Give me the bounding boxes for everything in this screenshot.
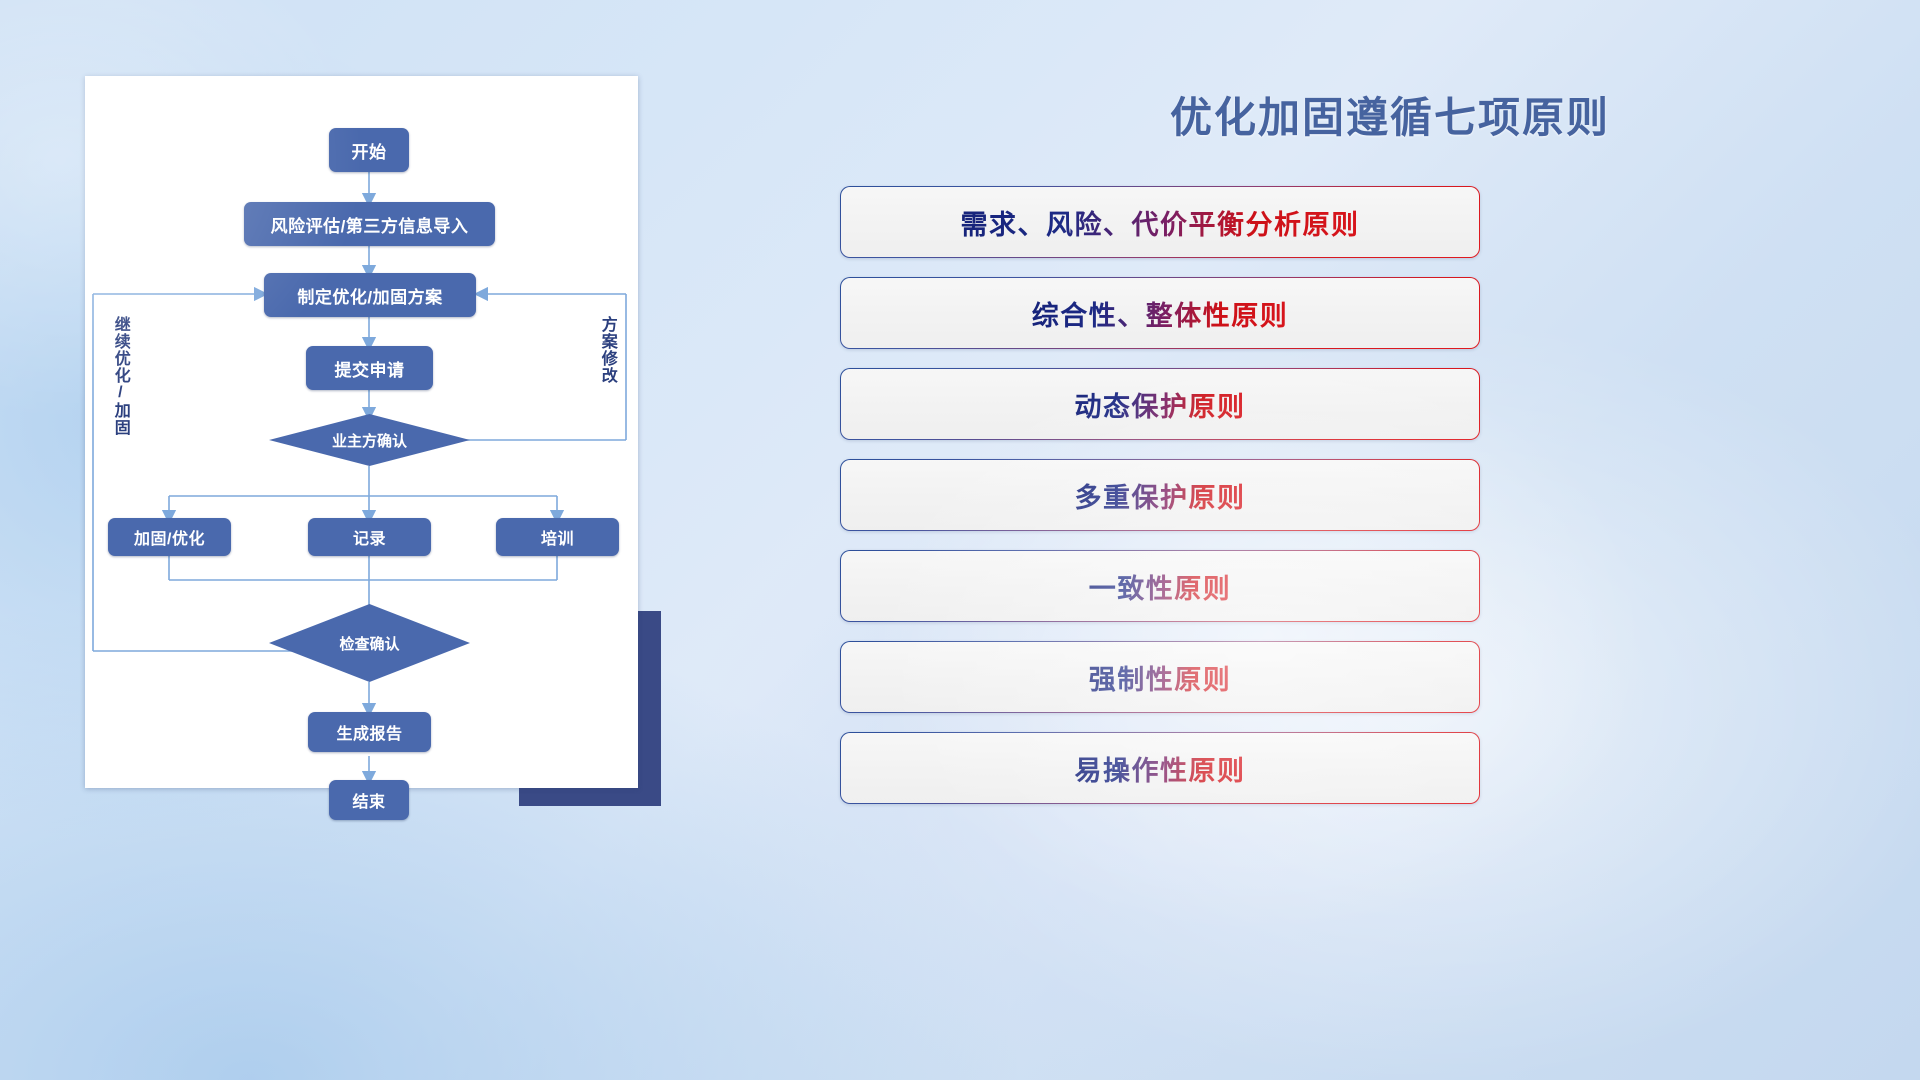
flow-node-label: 提交申请 — [335, 356, 405, 381]
flow-node-generate-report[interactable]: 生成报告 — [308, 712, 431, 752]
flow-node-submit-application[interactable]: 提交申请 — [306, 346, 433, 390]
flow-node-label: 培训 — [541, 525, 574, 549]
flowchart-card: 开始 风险评估/第三方信息导入 制定优化/加固方案 提交申请 业主方确认 加固/… — [85, 76, 638, 788]
flow-node-end[interactable]: 结束 — [329, 780, 409, 820]
principle-label: 多重保护原则 — [1075, 476, 1246, 515]
principle-card-3[interactable]: 动态保护原则 — [840, 368, 1480, 440]
flow-node-label: 制定优化/加固方案 — [297, 283, 442, 308]
principle-label: 综合性、整体性原则 — [1032, 294, 1289, 333]
principle-card-7[interactable]: 易操作性原则 — [840, 732, 1480, 804]
flow-node-training[interactable]: 培训 — [496, 518, 619, 556]
panel-title: 优化加固遵循七项原则 — [960, 84, 1820, 145]
flow-label-plan-revision: 方案修改 — [598, 316, 615, 384]
flow-node-label: 加固/优化 — [134, 525, 205, 549]
flow-node-label: 业主方确认 — [332, 430, 407, 451]
flow-node-plan[interactable]: 制定优化/加固方案 — [264, 273, 476, 317]
flow-node-label: 开始 — [352, 138, 387, 163]
flow-node-label: 结束 — [352, 788, 385, 812]
flow-node-label: 检查确认 — [339, 633, 399, 654]
principle-card-4[interactable]: 多重保护原则 — [840, 459, 1480, 531]
flowchart-diagram: 开始 风险评估/第三方信息导入 制定优化/加固方案 提交申请 业主方确认 加固/… — [85, 76, 638, 788]
flow-node-record[interactable]: 记录 — [308, 518, 431, 556]
flow-node-label: 记录 — [353, 525, 386, 549]
principle-label: 需求、风险、代价平衡分析原则 — [961, 203, 1360, 242]
flow-node-label: 风险评估/第三方信息导入 — [271, 212, 469, 237]
principle-card-5[interactable]: 一致性原则 — [840, 550, 1480, 622]
principles-panel: 优化加固遵循七项原则 需求、风险、代价平衡分析原则 综合性、整体性原则 动态保护… — [960, 0, 1920, 1080]
principle-label: 动态保护原则 — [1075, 385, 1246, 424]
slide-canvas: 开始 风险评估/第三方信息导入 制定优化/加固方案 提交申请 业主方确认 加固/… — [0, 0, 1920, 1080]
principle-label: 易操作性原则 — [1075, 749, 1246, 788]
principles-list: 需求、风险、代价平衡分析原则 综合性、整体性原则 动态保护原则 多重保护原则 一… — [840, 186, 1480, 823]
flow-node-start[interactable]: 开始 — [329, 128, 409, 172]
flow-node-risk-assessment[interactable]: 风险评估/第三方信息导入 — [244, 202, 495, 246]
principle-card-6[interactable]: 强制性原则 — [840, 641, 1480, 713]
flow-node-label: 生成报告 — [336, 720, 402, 744]
principle-card-1[interactable]: 需求、风险、代价平衡分析原则 — [840, 186, 1480, 258]
flow-label-continue-optimize: 继续优化/加固 — [111, 316, 128, 436]
principle-label: 强制性原则 — [1089, 658, 1232, 697]
flow-node-reinforce[interactable]: 加固/优化 — [108, 518, 231, 556]
principle-card-2[interactable]: 综合性、整体性原则 — [840, 277, 1480, 349]
flow-node-owner-confirm[interactable]: 业主方确认 — [269, 414, 470, 466]
principle-label: 一致性原则 — [1089, 567, 1232, 606]
flow-node-inspect-confirm[interactable]: 检查确认 — [269, 604, 470, 682]
